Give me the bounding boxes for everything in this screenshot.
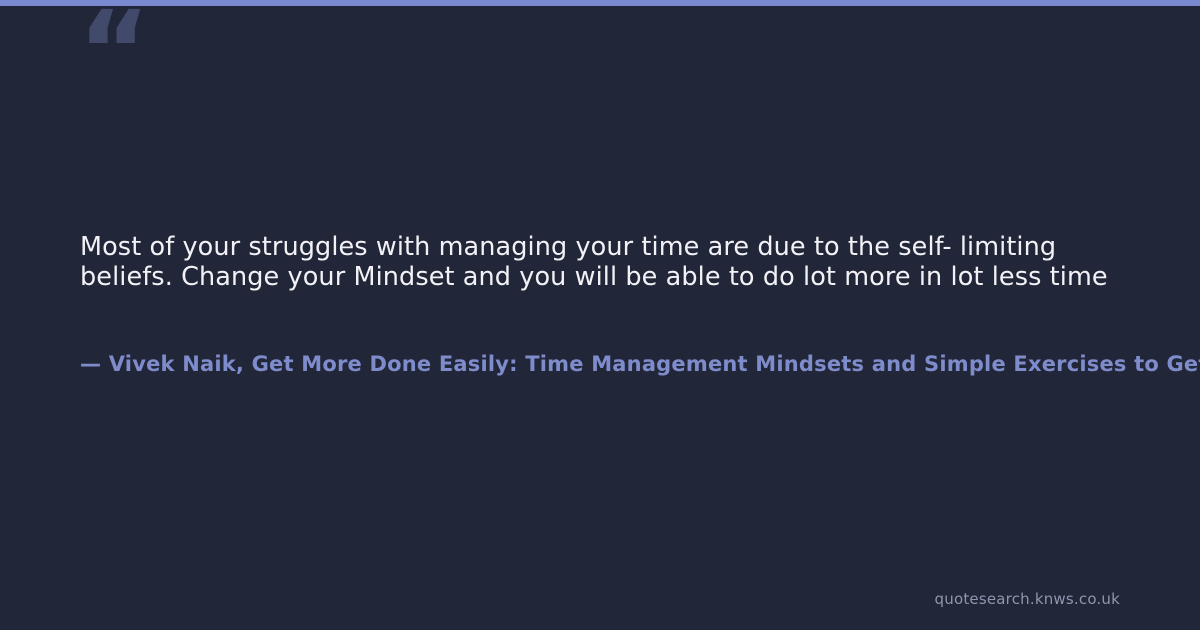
attribution: — Vivek Naik, Get More Done Easily: Time… xyxy=(80,348,1200,382)
quote-card: “ Most of your struggles with managing y… xyxy=(0,0,1200,630)
site-url: quotesearch.knws.co.uk xyxy=(935,590,1120,608)
opening-quote-icon: “ xyxy=(78,0,148,106)
quote-text: Most of your struggles with managing you… xyxy=(80,232,1110,292)
top-accent-bar xyxy=(0,0,1200,6)
attribution-text: — Vivek Naik, Get More Done Easily: Time… xyxy=(80,348,1200,380)
